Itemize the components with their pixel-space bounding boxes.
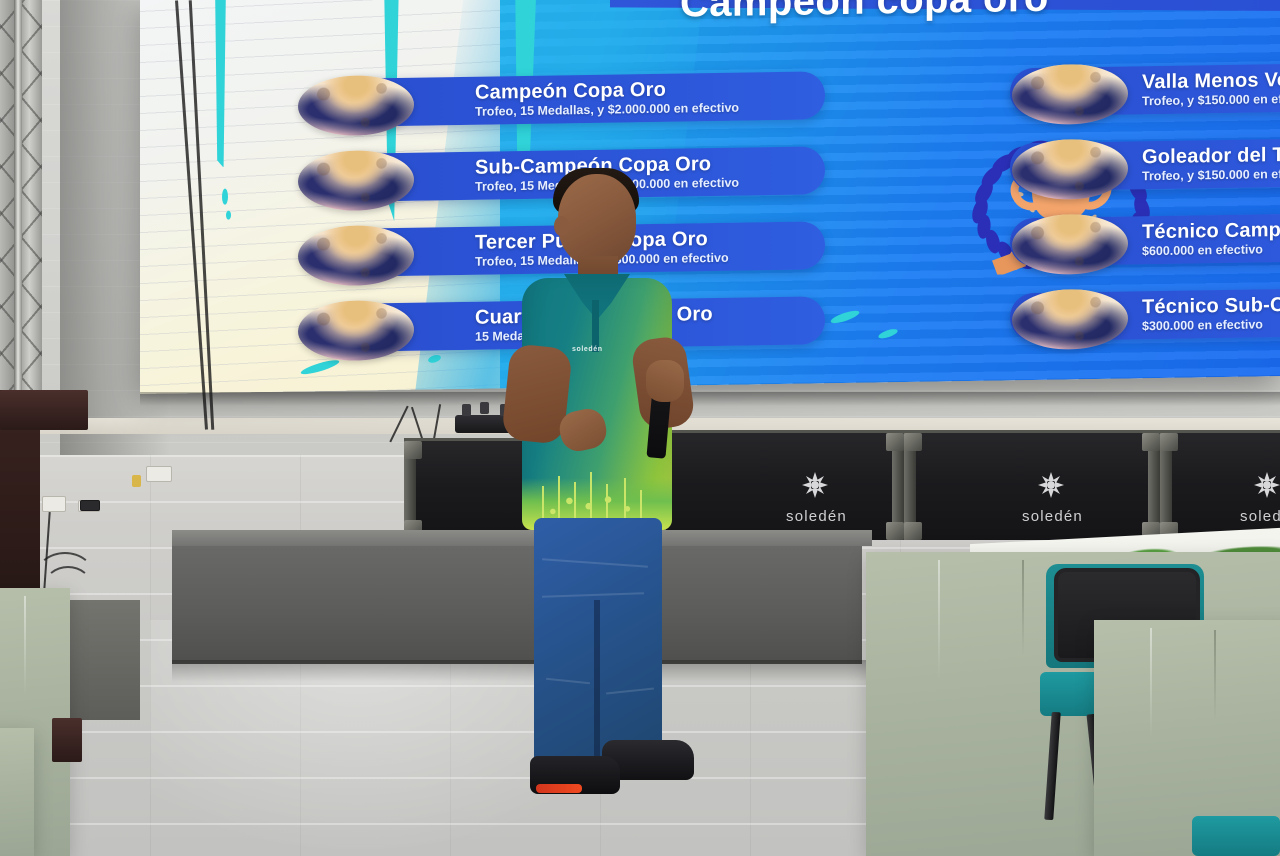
award-subtitle: $600.000 en efectivo: [1142, 242, 1280, 258]
flower-burst-icon: [1036, 470, 1066, 500]
team-photo-thumb: [298, 300, 414, 362]
case-corner: [404, 441, 422, 459]
cloth-fold: [1150, 628, 1152, 738]
speaker-chest-text: soledén: [572, 346, 603, 353]
team-photo-thumb: [1012, 63, 1128, 125]
speaker-ear: [554, 216, 569, 236]
draped-table: [0, 728, 34, 856]
plug-icon: [462, 404, 471, 416]
shoe-red-accent: [536, 784, 582, 793]
speaker: soledén: [498, 160, 698, 810]
award-title: Técnico Campeón: [1142, 220, 1280, 243]
presentation-photo: Quindío Campeón copa oro Campeón Copa Or…: [0, 0, 1280, 856]
chair-leg: [1044, 712, 1061, 820]
wall-outlet: [42, 496, 66, 512]
screen-bottom-shadow: [140, 392, 1280, 406]
team-photo-thumb: [1012, 138, 1128, 200]
wall-switch: [80, 500, 100, 511]
case-brand-label: soledén: [1240, 508, 1280, 525]
cloth-fold: [1214, 630, 1216, 720]
truss-pole: [14, 0, 22, 420]
case-corner: [1160, 433, 1178, 451]
palm-tree-print-icon: [528, 460, 666, 526]
floor-prop-box: [52, 718, 82, 762]
teal-dot-icon: [226, 211, 231, 220]
truss-base: [0, 390, 88, 430]
case-corner: [886, 522, 904, 540]
team-photo-thumb: [298, 225, 414, 287]
speaker-right-hand: [646, 360, 684, 402]
case-corner: [1142, 433, 1160, 451]
cloth-fold: [1022, 560, 1024, 656]
award-subtitle: Trofeo, y $150.000 en efectivo: [1142, 167, 1280, 183]
case-brand-label: soledén: [1022, 508, 1083, 525]
award-subtitle: Trofeo, 15 Medallas, y $2.000.000 en efe…: [475, 101, 739, 118]
cloth-fold: [938, 560, 940, 680]
teal-dot-icon: [222, 189, 228, 205]
flower-burst-icon: [800, 470, 830, 500]
award-title: Campeón Copa Oro: [475, 79, 739, 104]
team-photo-thumb: [1012, 288, 1128, 350]
case-corner: [904, 433, 922, 451]
flower-burst-icon: [1252, 470, 1280, 500]
wall-outlet: [146, 466, 172, 482]
plug-icon: [480, 402, 489, 414]
award-subtitle: Trofeo, y $150.000 en efectivo: [1142, 92, 1280, 108]
plug-icon: [132, 475, 141, 487]
cloth-fold: [24, 596, 26, 696]
case-corner: [886, 433, 904, 451]
award-subtitle: $300.000 en efectivo: [1142, 317, 1280, 333]
award-title: Técnico Sub-Campeón: [1142, 294, 1280, 318]
team-photo-thumb: [298, 75, 414, 137]
award-title: Valla Menos Vencida: [1142, 70, 1280, 94]
team-photo-thumb: [298, 150, 414, 212]
award-title: Goleador del Torneo: [1142, 145, 1280, 168]
projection-screen: Quindío Campeón copa oro Campeón Copa Or…: [140, 0, 1280, 394]
case-corner: [904, 522, 922, 540]
chair-seat: [1192, 816, 1280, 856]
speaker-head: [558, 174, 636, 266]
speaker-jeans-seam: [594, 600, 600, 770]
case-brand-label: soledén: [786, 508, 847, 525]
speaker-shirt-placket: [592, 300, 599, 352]
team-photo-thumb: [1012, 213, 1128, 275]
